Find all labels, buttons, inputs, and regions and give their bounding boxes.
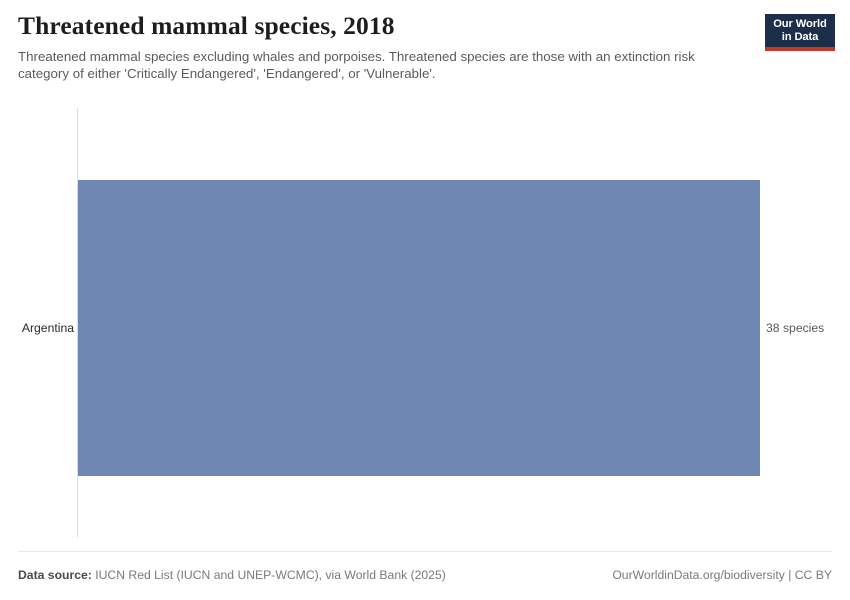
chart-container: Threatened mammal species, 2018 Threaten… <box>0 0 850 600</box>
data-source-label: Data source: <box>18 568 92 582</box>
chart-subtitle: Threatened mammal species excluding whal… <box>18 48 746 83</box>
data-source: Data source: IUCN Red List (IUCN and UNE… <box>18 568 446 582</box>
footer-divider <box>18 551 832 552</box>
page-title: Threatened mammal species, 2018 <box>18 12 758 41</box>
y-axis-line <box>77 108 78 537</box>
bar-category-label: Argentina <box>0 320 74 336</box>
bar-argentina[interactable] <box>78 180 760 476</box>
chart-header: Threatened mammal species, 2018 Threaten… <box>18 12 758 83</box>
logo-line-2: in Data <box>782 31 819 44</box>
plot-area: Argentina 38 species <box>0 0 850 600</box>
bar-value-label: 38 species <box>766 320 824 336</box>
attribution-link[interactable]: OurWorldinData.org/biodiversity | CC BY <box>612 568 832 582</box>
chart-footer: Data source: IUCN Red List (IUCN and UNE… <box>18 564 832 586</box>
data-source-text: IUCN Red List (IUCN and UNEP-WCMC), via … <box>92 568 446 582</box>
our-world-in-data-logo[interactable]: Our World in Data <box>765 14 835 51</box>
logo-line-1: Our World <box>773 18 827 31</box>
